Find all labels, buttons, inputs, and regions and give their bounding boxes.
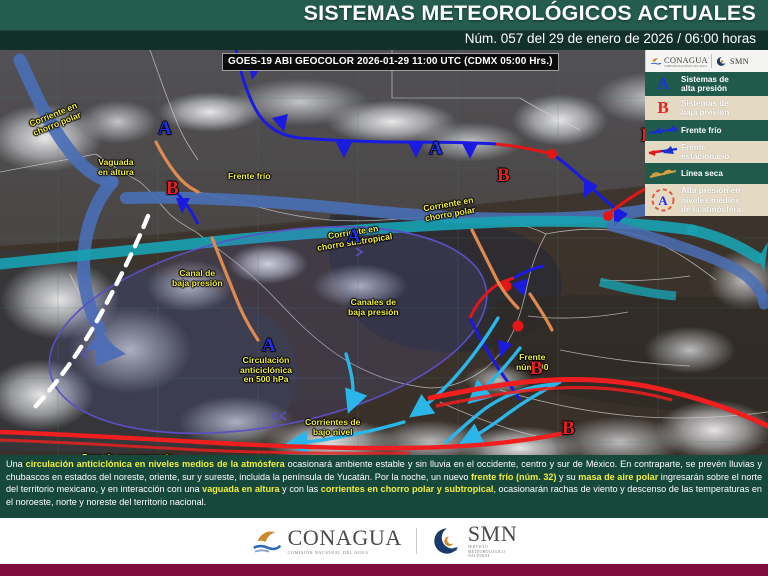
smn-wordmark-footer: SMN SERVICIOMETEOROLÓGICONACIONAL: [468, 523, 518, 560]
forecast-description: Una circulación anticiclónica en niveles…: [0, 455, 768, 518]
conagua-emblem-icon-footer: [251, 525, 283, 557]
weather-bulletin-page: SISTEMAS METEOROLÓGICOS ACTUALES Núm. 05…: [0, 0, 768, 576]
legend-item-frente-estacionario[interactable]: Frenteestacionario: [645, 141, 768, 163]
legend-item-linea-seca[interactable]: Línea seca: [645, 163, 768, 184]
bottom-accent-bar: [0, 564, 768, 576]
smn-emblem-icon-footer: [431, 525, 463, 557]
conagua-wordmark-small: CONAGUA COMISIÓN NACIONAL DEL AGUA: [664, 55, 708, 68]
pressure-mark-B-baja-1: B: [166, 178, 179, 200]
highlighted-term: frente frío (núm. 32): [471, 472, 556, 482]
conagua-emblem-icon: [649, 55, 662, 68]
conagua-wordmark-footer: CONAGUA COMISIÓN NACIONAL DEL AGUA: [288, 527, 402, 555]
pressure-mark-B-carib: B: [530, 358, 543, 380]
dry-line-icon: [645, 167, 681, 181]
svg-text:A: A: [658, 193, 668, 208]
map-legend: A Sistemas dealta presión B Sistemas deb…: [645, 72, 768, 216]
pressure-mark-A-gulf: A: [347, 226, 361, 248]
legend-label-frente-estacionario: Frenteestacionario: [681, 143, 768, 161]
conagua-logo-small: CONAGUA COMISIÓN NACIONAL DEL AGUA: [646, 55, 711, 68]
letter-A-icon: A: [645, 74, 681, 94]
legend-label-frente-frio: Frente frío: [681, 126, 768, 135]
pressure-mark-B-south: B: [562, 418, 575, 440]
legend-item-alta-presion[interactable]: A Sistemas dealta presión: [645, 72, 768, 96]
page-footer: CONAGUA COMISIÓN NACIONAL DEL AGUA SMN S…: [0, 518, 768, 564]
forecast-description-text: Una circulación anticiclónica en niveles…: [6, 458, 762, 508]
smn-wordmark-small: SMN: [730, 56, 749, 66]
highlighted-term: vaguada en altura: [202, 484, 279, 494]
highlighted-term: masa de aire polar: [578, 472, 658, 482]
highlighted-term: circulación anticiclónica en niveles med…: [26, 459, 285, 469]
legend-label-baja-presion: Sistemas debaja presión: [681, 99, 768, 117]
map-logo-strip: CONAGUA COMISIÓN NACIONAL DEL AGUA SMN: [645, 50, 768, 72]
page-title: SISTEMAS METEOROLÓGICOS ACTUALES: [304, 1, 756, 26]
legend-label-alta-presion: Sistemas dealta presión: [681, 75, 768, 93]
conagua-logo-footer: CONAGUA COMISIÓN NACIONAL DEL AGUA: [251, 525, 402, 557]
highlighted-term: corrientes en chorro polar y subtropical: [321, 484, 494, 494]
footer-divider: [416, 528, 417, 554]
goes-satellite-banner: GOES-19 ABI GEOCOLOR 2026-01-29 11:00 UT…: [222, 53, 559, 71]
smn-logo-small: SMN: [712, 55, 752, 68]
pressure-mark-B-east-1: B: [497, 165, 510, 187]
cold-front-icon: [645, 124, 681, 138]
pressure-mark-A-center: A: [262, 335, 276, 357]
legend-item-frente-frio[interactable]: Frente frío: [645, 120, 768, 141]
page-header: SISTEMAS METEOROLÓGICOS ACTUALES Núm. 05…: [0, 0, 768, 50]
satellite-map[interactable]: GOES-19 ABI GEOCOLOR 2026-01-29 11:00 UT…: [0, 50, 768, 455]
legend-label-linea-seca: Línea seca: [681, 169, 768, 178]
legend-item-alta-presion-niveles-medios[interactable]: A Alta presión enniveles mediosde la atm…: [645, 184, 768, 216]
stationary-front-icon: [645, 145, 681, 159]
letter-B-icon: B: [645, 98, 681, 118]
pressure-mark-A-north-2: A: [429, 138, 443, 160]
legend-item-baja-presion[interactable]: B Sistemas debaja presión: [645, 96, 768, 120]
bulletin-number-date: Núm. 057 del 29 de enero de 2026 / 06:00…: [465, 31, 756, 46]
smn-logo-footer: SMN SERVICIOMETEOROLÓGICONACIONAL: [431, 523, 518, 560]
legend-label-alta-presion-niveles-medios: Alta presión enniveles mediosde la atmós…: [681, 186, 768, 214]
pressure-mark-A-north-1: A: [158, 118, 172, 140]
smn-emblem-icon: [715, 55, 728, 68]
mid-level-high-icon: A: [645, 187, 681, 213]
